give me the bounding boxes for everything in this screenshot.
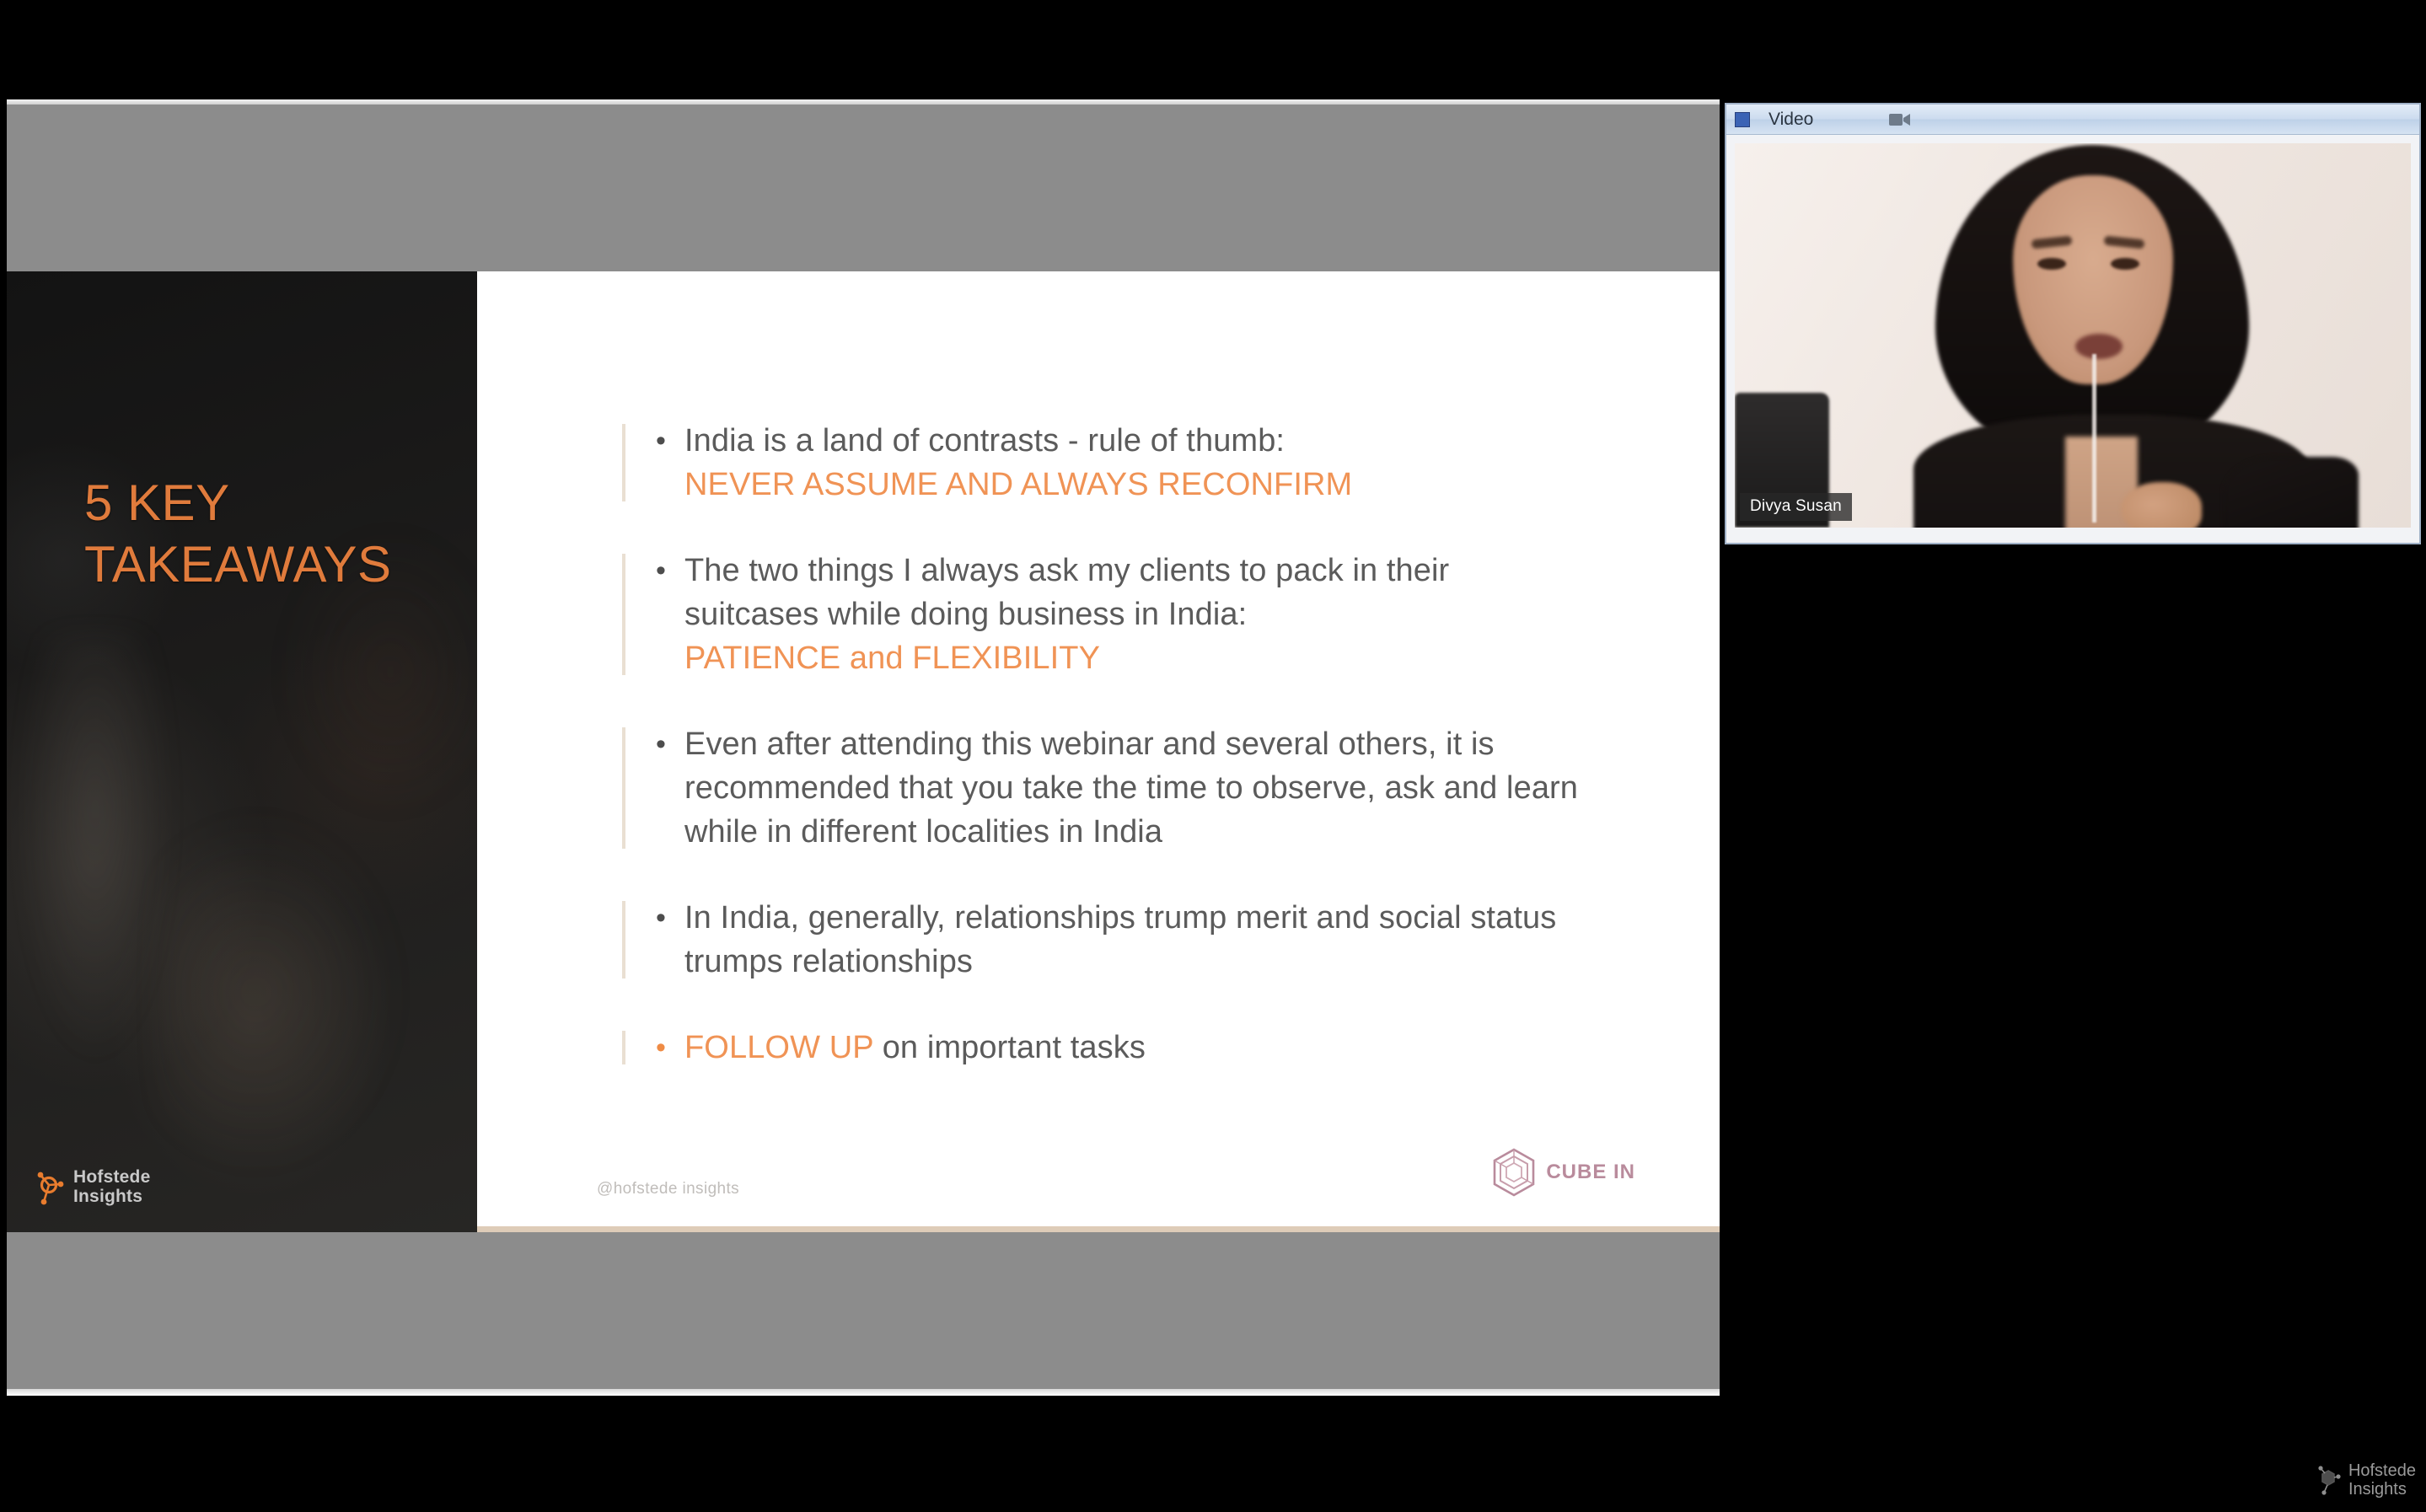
- video-panel-titlebar[interactable]: Video: [1726, 105, 2419, 135]
- hofstede-logo-line-1: Hofstede: [73, 1168, 150, 1188]
- participant-arm-right: [2224, 457, 2359, 528]
- share-region-bottom-border: [7, 1389, 1720, 1396]
- bullet-accent-rule: [622, 424, 625, 501]
- participant-eye-left: [2037, 258, 2066, 270]
- slide-title-line-2: TAKEAWAYS: [84, 533, 447, 595]
- hofstede-node-icon: [2313, 1462, 2343, 1498]
- cube-in-logo: CUBE IN: [1492, 1148, 1635, 1197]
- bullet-highlight: PATIENCE and FLEXIBILITY: [684, 636, 1591, 680]
- slide-bullet-list: • India is a land of contrasts - rule of…: [597, 419, 1591, 1070]
- panel-photo-blob-center: [158, 811, 403, 1173]
- participant-eye-right: [2111, 258, 2139, 270]
- hofstede-logo-line-2: Insights: [73, 1188, 150, 1207]
- bullet-text: FOLLOW UP on important tasks: [684, 1026, 1591, 1070]
- bullet-accent-rule: [622, 554, 625, 675]
- earphone-cable: [2092, 354, 2096, 523]
- slide-title-panel: 5 KEY TAKEAWAYS Hofstede Insights: [7, 271, 477, 1232]
- bullet-marker: •: [656, 549, 684, 680]
- participant-name-badge: Divya Susan: [1740, 493, 1852, 521]
- hofstede-insights-logo: Hofstede Insights: [32, 1168, 150, 1207]
- bullet-lead: India is a land of contrasts - rule of t…: [684, 419, 1591, 463]
- watermark-line-2: Insights: [2348, 1480, 2416, 1499]
- bullet-accent-rule: [622, 1031, 625, 1064]
- bullet-accent-rule: [622, 901, 625, 979]
- bullet-text: The two things I always ask my clients t…: [684, 549, 1591, 680]
- video-panel-title: Video: [1769, 110, 1813, 130]
- list-item: • The two things I always ask my clients…: [597, 549, 1591, 680]
- slide-title-line-1: 5 KEY: [84, 472, 447, 533]
- app-square-icon: [1735, 112, 1750, 127]
- bullet-highlight: FOLLOW UP: [684, 1030, 873, 1065]
- watermark: Hofstede Insights: [2313, 1461, 2416, 1499]
- list-item: • FOLLOW UP on important tasks: [597, 1026, 1591, 1070]
- hofstede-node-icon: [32, 1168, 67, 1207]
- watermark-line-1: Hofstede: [2348, 1461, 2416, 1480]
- panel-photo-blob-left: [15, 634, 175, 1072]
- screen-share-region: 5 KEY TAKEAWAYS Hofstede Insights: [7, 105, 1720, 1389]
- bullet-marker: •: [656, 419, 684, 507]
- bullet-marker: •: [656, 896, 684, 984]
- bullet-text: India is a land of contrasts - rule of t…: [684, 419, 1591, 507]
- camera-icon[interactable]: [1889, 112, 1911, 127]
- bullet-lead: The two things I always ask my clients t…: [684, 553, 1449, 632]
- watermark-text: Hofstede Insights: [2348, 1461, 2416, 1499]
- participant-hand: [2121, 482, 2202, 528]
- bullet-marker: •: [656, 1026, 684, 1070]
- video-panel[interactable]: Video Divya Susan: [1725, 103, 2421, 544]
- list-item: • India is a land of contrasts - rule of…: [597, 419, 1591, 507]
- cube-in-logo-text: CUBE IN: [1546, 1161, 1635, 1184]
- list-item: • In India, generally, relationships tru…: [597, 896, 1591, 984]
- bullet-accent-rule: [622, 727, 625, 849]
- list-item: • Even after attending this webinar and …: [597, 722, 1591, 854]
- bullet-text: In India, generally, relationships trump…: [684, 896, 1591, 984]
- bullet-highlight: NEVER ASSUME AND ALWAYS RECONFIRM: [684, 463, 1591, 507]
- presentation-slide: 5 KEY TAKEAWAYS Hofstede Insights: [7, 271, 1720, 1232]
- bullet-marker: •: [656, 722, 684, 854]
- slide-title: 5 KEY TAKEAWAYS: [84, 472, 447, 595]
- participant-mouth: [2075, 334, 2123, 359]
- bullet-text: Even after attending this webinar and se…: [684, 722, 1591, 854]
- video-stage[interactable]: Divya Susan: [1735, 143, 2411, 528]
- slide-footer-handle: @hofstede insights: [597, 1180, 739, 1198]
- hofstede-insights-logo-text: Hofstede Insights: [73, 1168, 150, 1206]
- slide-bottom-accent-rule: [477, 1226, 1720, 1232]
- cube-in-hexagon-icon: [1492, 1148, 1536, 1197]
- bullet-trail: on important tasks: [873, 1030, 1146, 1065]
